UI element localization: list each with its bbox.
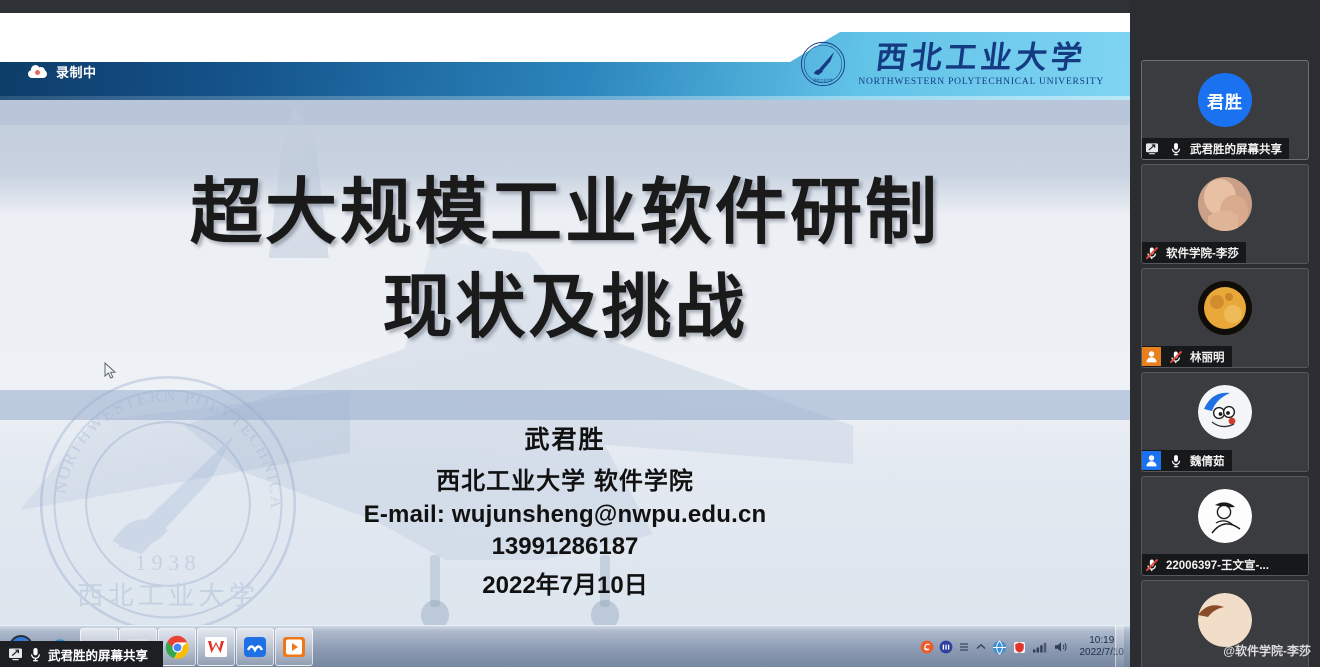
- slide-body: NORTHWESTERN POLYTECHNICAL UNIVERSITY 19…: [0, 100, 1130, 625]
- taskbar-item-meeting-app[interactable]: [236, 628, 274, 666]
- wifi-signal-icon[interactable]: [1032, 640, 1048, 654]
- screen-share-label: 武君胜的屏幕共享: [48, 645, 148, 664]
- shared-screen-region: 录制中 西北工业大学 西北工业大学 NORTHWESTERN POLYTECHN…: [0, 0, 1130, 667]
- mouse-cursor: [104, 362, 117, 380]
- tray-overflow-icon[interactable]: [958, 640, 970, 654]
- participant-label: 武君胜的屏幕共享: [1142, 138, 1289, 159]
- participant-label: 软件学院-李莎: [1142, 242, 1246, 263]
- university-name-en: NORTHWESTERN POLYTECHNICAL UNIVERSITY: [858, 77, 1104, 87]
- avatar-photo: [1198, 177, 1252, 231]
- author-organization: 西北工业大学 软件学院: [0, 461, 1130, 496]
- show-desktop-button[interactable]: [1115, 626, 1124, 667]
- microphone-muted-icon: [1142, 555, 1161, 574]
- taskbar-item-google-chrome[interactable]: [158, 628, 196, 666]
- participant-tile-1[interactable]: 软件学院-李莎: [1141, 164, 1309, 264]
- avatar: [1198, 385, 1252, 439]
- aircraft-wheel-right: [591, 600, 619, 625]
- svg-text:西北工业大学: 西北工业大学: [814, 77, 834, 82]
- avatar: [1198, 593, 1252, 647]
- participant-label: 22006397-王文宣-...: [1142, 554, 1308, 575]
- university-seal-icon: 西北工业大学: [800, 41, 846, 87]
- meeting-app-icon: [243, 636, 267, 658]
- wps-office-icon: [204, 636, 228, 658]
- avatar-photo: [1198, 385, 1252, 439]
- tray-app-icon[interactable]: [939, 640, 953, 654]
- google-chrome-icon: [165, 635, 190, 660]
- taskbar-item-wps-office[interactable]: [197, 628, 235, 666]
- participant-label: 魏倩茹: [1142, 450, 1232, 471]
- avatar: [1198, 489, 1252, 543]
- cloud-record-icon: [28, 65, 47, 78]
- person-badge-icon: [1142, 451, 1161, 470]
- participant-label: 林丽明: [1142, 346, 1232, 367]
- slide-title: 超大规模工业软件研制 现状及挑战: [0, 175, 1130, 346]
- avatar: [1198, 177, 1252, 231]
- avatar-photo: [1198, 281, 1252, 335]
- tray-icon-group: [920, 640, 1068, 655]
- screen-share-icon: [8, 647, 23, 661]
- microphone-icon: [1166, 451, 1185, 470]
- system-tray[interactable]: 10:19 2022/7/10: [920, 626, 1125, 667]
- slide-author-block: 武君胜 西北工业大学 软件学院 E-mail: wujunsheng@nwpu.…: [0, 420, 1130, 600]
- participant-tile-2[interactable]: 林丽明: [1141, 268, 1309, 368]
- participant-name: 22006397-王文宣-...: [1166, 557, 1269, 573]
- avatar: 君胜: [1198, 73, 1252, 127]
- participant-name: 武君胜的屏幕共享: [1190, 141, 1282, 157]
- banner-notch: [0, 32, 840, 62]
- sidebar-watermark: @软件学院-李莎: [1223, 642, 1311, 659]
- video-player-icon: [282, 636, 306, 658]
- participant-tile-3[interactable]: 魏倩茹: [1141, 372, 1309, 472]
- avatar-initials: 君胜: [1198, 73, 1252, 127]
- avatar-photo: [1198, 593, 1252, 647]
- aircraft-wheel-left: [421, 600, 449, 625]
- screen-share-status-bar[interactable]: 武君胜的屏幕共享: [0, 641, 163, 667]
- person-badge-icon: [1142, 347, 1161, 366]
- taskbar-item-video-player[interactable]: [275, 628, 313, 666]
- participant-name: 林丽明: [1190, 349, 1225, 365]
- screen: 录制中 西北工业大学 西北工业大学 NORTHWESTERN POLYTECHN…: [0, 0, 1320, 667]
- microphone-icon: [1166, 139, 1185, 158]
- windows-taskbar[interactable]: 10:19 2022/7/10: [0, 625, 1130, 667]
- screen-share-icon: [1142, 139, 1161, 158]
- sogou-input-icon[interactable]: [920, 640, 934, 654]
- slide-title-line2: 现状及挑战: [0, 271, 1130, 347]
- security-shield-icon[interactable]: [1012, 640, 1027, 655]
- slide-title-line1: 超大规模工业软件研制: [0, 175, 1130, 253]
- microphone-icon: [30, 647, 41, 662]
- avatar-photo: [1198, 489, 1252, 543]
- tray-chevron-up-icon[interactable]: [975, 640, 987, 654]
- participant-name: 软件学院-李莎: [1166, 245, 1239, 261]
- participant-tile-4[interactable]: 22006397-王文宣-...: [1141, 476, 1309, 576]
- network-globe-icon[interactable]: [992, 640, 1007, 655]
- top-strip: [0, 0, 1130, 13]
- university-name-cn: 西北工业大学: [874, 42, 1088, 73]
- avatar: [1198, 281, 1252, 335]
- slide-band-upper: [0, 100, 1130, 125]
- volume-icon[interactable]: [1053, 640, 1068, 654]
- author-name: 武君胜: [0, 420, 1130, 456]
- microphone-muted-icon: [1142, 243, 1161, 262]
- presentation-slide: 录制中 西北工业大学 西北工业大学 NORTHWESTERN POLYTECHN…: [0, 13, 1130, 625]
- participant-sidebar[interactable]: 君胜 武君胜的屏幕共享: [1130, 0, 1320, 667]
- slide-band-middle: [0, 390, 1130, 420]
- recording-indicator: 录制中: [28, 62, 97, 81]
- author-phone: 13991286187: [0, 533, 1130, 561]
- university-wordmark: 西北工业大学 NORTHWESTERN POLYTECHNICAL UNIVER…: [858, 42, 1104, 87]
- participant-tile-0[interactable]: 君胜 武君胜的屏幕共享: [1141, 60, 1309, 160]
- author-email: E-mail: wujunsheng@nwpu.edu.cn: [0, 501, 1130, 529]
- university-logo: 西北工业大学 西北工业大学 NORTHWESTERN POLYTECHNICAL…: [800, 41, 1104, 87]
- participant-name: 魏倩茹: [1190, 453, 1225, 469]
- recording-label: 录制中: [56, 62, 97, 81]
- presentation-date: 2022年7月10日: [0, 565, 1130, 600]
- microphone-muted-icon: [1166, 347, 1185, 366]
